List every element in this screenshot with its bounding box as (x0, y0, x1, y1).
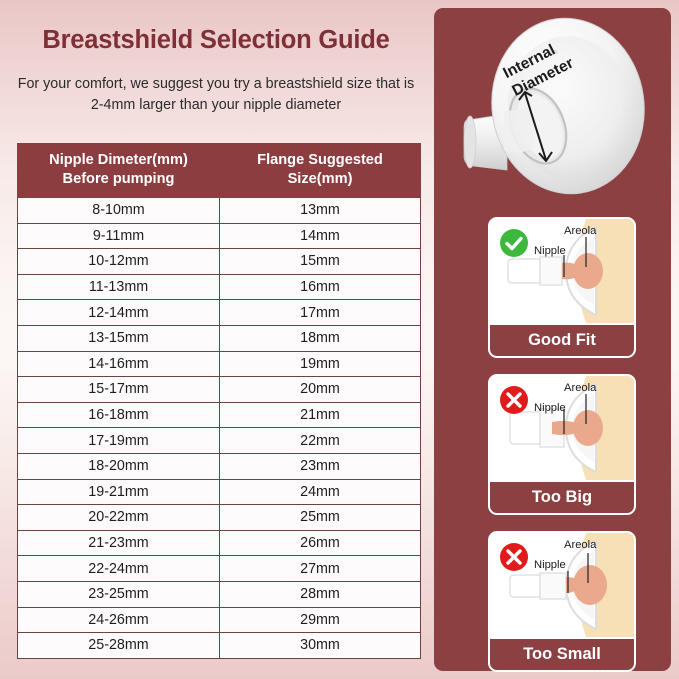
table-row: 24-26mm29mm (18, 607, 421, 633)
illustration-right-panel: Internal Diameter Areola Nipple (434, 8, 671, 671)
fit-card-label: Too Small (490, 637, 634, 670)
green-check-circle-icon (499, 228, 529, 258)
table-row: 20-22mm25mm (18, 505, 421, 531)
cell-nipple-diameter: 19-21mm (18, 479, 220, 505)
cell-flange-size: 15mm (220, 249, 421, 275)
column-header-line1: Nipple Dimeter(mm) (20, 151, 217, 170)
page-title: Breastshield Selection Guide (0, 26, 432, 55)
cell-nipple-diameter: 12-14mm (18, 300, 220, 326)
table-row: 12-14mm17mm (18, 300, 421, 326)
fit-card-label: Too Big (490, 480, 634, 513)
cell-nipple-diameter: 25-28mm (18, 633, 220, 659)
cell-nipple-diameter: 8-10mm (18, 198, 220, 224)
table-row: 13-15mm18mm (18, 325, 421, 351)
cell-flange-size: 19mm (220, 351, 421, 377)
table-row: 21-23mm26mm (18, 530, 421, 556)
cell-nipple-diameter: 18-20mm (18, 453, 220, 479)
column-header-line1: Flange Suggested (222, 151, 418, 170)
cell-flange-size: 13mm (220, 198, 421, 224)
areola-label: Areola (564, 382, 596, 394)
red-x-circle-icon (499, 542, 529, 572)
cell-flange-size: 29mm (220, 607, 421, 633)
guide-left-column: Breastshield Selection Guide For your co… (0, 0, 432, 679)
cell-flange-size: 26mm (220, 530, 421, 556)
table-row: 25-28mm30mm (18, 633, 421, 659)
cell-flange-size: 16mm (220, 274, 421, 300)
table-body: 8-10mm13mm9-11mm14mm10-12mm15mm11-13mm16… (18, 198, 421, 659)
cell-nipple-diameter: 14-16mm (18, 351, 220, 377)
table-row: 23-25mm28mm (18, 581, 421, 607)
cell-flange-size: 17mm (220, 300, 421, 326)
cell-nipple-diameter: 11-13mm (18, 274, 220, 300)
cell-nipple-diameter: 10-12mm (18, 249, 220, 275)
table-row: 18-20mm23mm (18, 453, 421, 479)
nipple-label: Nipple (534, 402, 566, 414)
cell-nipple-diameter: 20-22mm (18, 505, 220, 531)
cell-nipple-diameter: 9-11mm (18, 223, 220, 249)
table-row: 10-12mm15mm (18, 249, 421, 275)
cell-nipple-diameter: 16-18mm (18, 402, 220, 428)
column-header-flange-size: Flange Suggested Size(mm) (220, 144, 421, 198)
cell-flange-size: 28mm (220, 581, 421, 607)
cell-flange-size: 14mm (220, 223, 421, 249)
fit-illustration: Areola Nipple (490, 533, 634, 637)
table-row: 9-11mm14mm (18, 223, 421, 249)
cell-nipple-diameter: 21-23mm (18, 530, 220, 556)
fit-card-good-fit[interactable]: Areola Nipple Good Fit (488, 217, 636, 358)
nipple-label: Nipple (534, 559, 566, 571)
fit-illustration: Areola Nipple (490, 219, 634, 323)
red-x-circle-icon (499, 385, 529, 415)
cell-nipple-diameter: 13-15mm (18, 325, 220, 351)
cell-flange-size: 23mm (220, 453, 421, 479)
table-row: 17-19mm22mm (18, 428, 421, 454)
cell-flange-size: 25mm (220, 505, 421, 531)
table-row: 8-10mm13mm (18, 198, 421, 224)
fit-card-label: Good Fit (490, 323, 634, 356)
cell-nipple-diameter: 17-19mm (18, 428, 220, 454)
nipple-label: Nipple (534, 245, 566, 257)
table-header-row: Nipple Dimeter(mm) Before pumping Flange… (18, 144, 421, 198)
table-row: 16-18mm21mm (18, 402, 421, 428)
table-row: 11-13mm16mm (18, 274, 421, 300)
table-row: 15-17mm20mm (18, 377, 421, 403)
cell-flange-size: 30mm (220, 633, 421, 659)
column-header-line2: Before pumping (20, 170, 217, 189)
cell-nipple-diameter: 22-24mm (18, 556, 220, 582)
cell-nipple-diameter: 15-17mm (18, 377, 220, 403)
breastshield-flange-icon (434, 8, 671, 208)
cell-flange-size: 20mm (220, 377, 421, 403)
cell-nipple-diameter: 23-25mm (18, 581, 220, 607)
size-chart-table: Nipple Dimeter(mm) Before pumping Flange… (17, 143, 421, 659)
fit-card-too-small[interactable]: Areola Nipple Too Small (488, 531, 636, 672)
fit-illustration: Areola Nipple (490, 376, 634, 480)
cell-flange-size: 21mm (220, 402, 421, 428)
table-row: 14-16mm19mm (18, 351, 421, 377)
cell-flange-size: 24mm (220, 479, 421, 505)
column-header-line2: Size(mm) (222, 170, 418, 189)
table-row: 22-24mm27mm (18, 556, 421, 582)
breastshield-product-photo: Internal Diameter (434, 8, 671, 208)
cell-flange-size: 22mm (220, 428, 421, 454)
cell-flange-size: 27mm (220, 556, 421, 582)
table-row: 19-21mm24mm (18, 479, 421, 505)
cell-nipple-diameter: 24-26mm (18, 607, 220, 633)
areola-label: Areola (564, 225, 596, 237)
fit-card-too-big[interactable]: Areola Nipple Too Big (488, 374, 636, 515)
cell-flange-size: 18mm (220, 325, 421, 351)
areola-label: Areola (564, 539, 596, 551)
column-header-nipple-diameter: Nipple Dimeter(mm) Before pumping (18, 144, 220, 198)
page-subtitle: For your comfort, we suggest you try a b… (14, 74, 418, 116)
